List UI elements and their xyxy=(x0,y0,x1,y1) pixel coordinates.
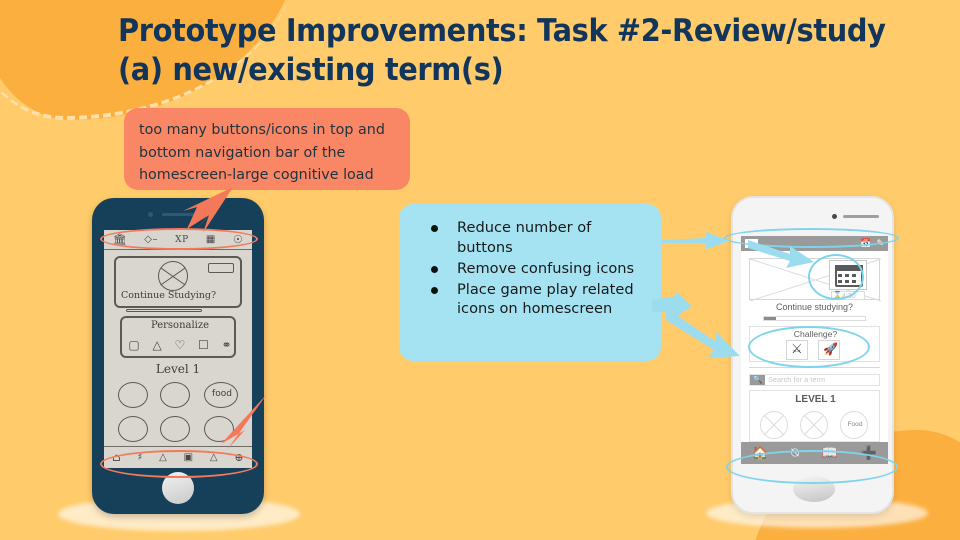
sketch-level-item[interactable] xyxy=(204,416,234,442)
sketch-continue-card[interactable]: Continue Studying? xyxy=(114,256,242,308)
level-item-food[interactable]: Food xyxy=(840,411,868,439)
sketch-food-label: food xyxy=(205,389,239,399)
level-item-circle[interactable] xyxy=(760,411,788,439)
annotation-ellipse-bottom-nav xyxy=(100,450,258,478)
key-icon[interactable]: ⚭ xyxy=(222,338,232,352)
slide-canvas: Prototype Improvements: Task #2-Review/s… xyxy=(0,0,960,540)
book-icon[interactable]: ☐ xyxy=(198,338,209,352)
sketch-level-item-food[interactable]: food xyxy=(204,382,238,408)
sketch-level-item[interactable] xyxy=(118,382,148,408)
solution-callout: Reduce number of buttons Remove confusin… xyxy=(399,204,661,361)
study-progress-bar xyxy=(763,316,866,321)
annotation-ellipse-calendar xyxy=(808,254,864,300)
level-label: LEVEL 1 xyxy=(750,394,881,405)
sketch-personalize-card[interactable]: Personalize ▢ △ ♡ ☐ ⚭ xyxy=(120,316,236,358)
problem-callout-text: too many buttons/icons in top and bottom… xyxy=(139,122,385,183)
camera-dot-icon xyxy=(148,212,153,217)
sketch-level-label: Level 1 xyxy=(104,362,252,376)
sketch-personalize-title: Personalize xyxy=(122,320,238,331)
sketch-badge xyxy=(208,263,234,273)
search-bar[interactable]: 🔍 Search for a term xyxy=(749,374,880,386)
continue-studying-label: Continue studying? xyxy=(741,302,888,312)
level-panel: LEVEL 1 Food xyxy=(749,390,880,442)
sketch-level-item[interactable] xyxy=(118,416,148,442)
list-item: Remove confusing icons xyxy=(419,259,649,279)
sketch-level-item[interactable] xyxy=(160,382,190,408)
sketch-continue-label: Continue Studying? xyxy=(121,290,216,301)
solution-bullet-list: Reduce number of buttons Remove confusin… xyxy=(419,218,649,319)
level-item-circle[interactable] xyxy=(800,411,828,439)
list-item: Place game play related icons on homescr… xyxy=(419,280,649,320)
speaker-grill xyxy=(843,215,879,218)
search-icon[interactable]: 🔍 xyxy=(750,375,765,385)
search-input[interactable]: Search for a term xyxy=(768,375,868,384)
camera-dot-icon xyxy=(832,214,837,219)
annotation-arrow-to-top-bar xyxy=(662,232,734,250)
page-title: Prototype Improvements: Task #2-Review/s… xyxy=(118,12,899,91)
speech-bubble-icon[interactable]: ▢ xyxy=(128,338,139,352)
heart-icon[interactable]: ♡ xyxy=(174,338,185,352)
speaker-grill xyxy=(162,213,202,216)
rocket-icon[interactable]: △ xyxy=(152,338,161,352)
problem-callout: too many buttons/icons in top and bottom… xyxy=(124,108,410,190)
level-item-food-label: Food xyxy=(841,421,869,428)
annotation-ellipse-bottom-nav xyxy=(726,450,898,484)
list-item: Reduce number of buttons xyxy=(419,218,649,258)
phone-before-screen: 🏛 ◇– XP ▦ ☉ Continue Studying? Personali… xyxy=(104,230,252,468)
sketch-level-item[interactable] xyxy=(160,416,190,442)
annotation-ellipse-challenge xyxy=(748,326,870,368)
annotation-ellipse-top-nav xyxy=(100,228,258,250)
annotation-ellipse-app-top-bar xyxy=(724,228,899,248)
